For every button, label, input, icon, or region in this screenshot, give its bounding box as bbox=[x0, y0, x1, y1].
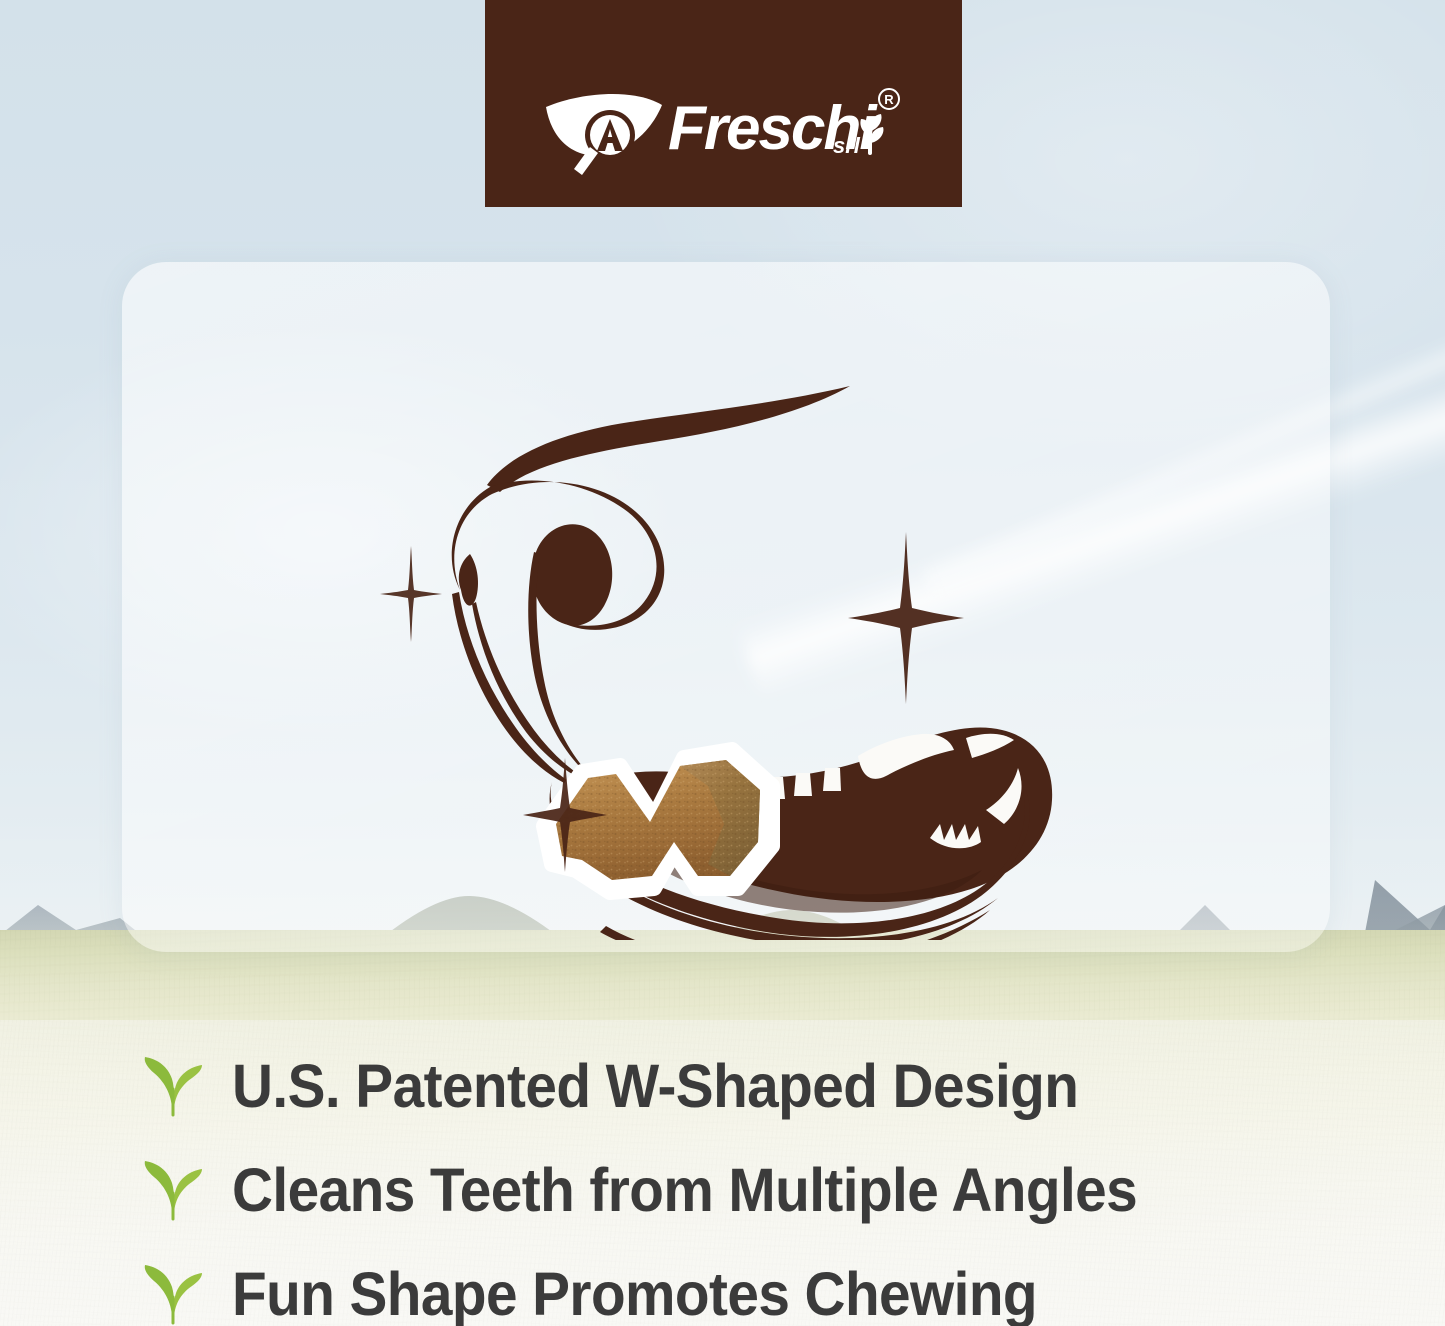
feature-list: U.S. Patented W-Shaped Design Cleans Tee… bbox=[0, 1034, 1445, 1326]
registered-trademark-icon: R bbox=[879, 89, 899, 109]
feature-label: U.S. Patented W-Shaped Design bbox=[232, 1055, 1078, 1117]
brand-logo-bar: Freschi srl R bbox=[485, 0, 962, 207]
leaf-pair-icon bbox=[136, 1257, 210, 1326]
feature-label: Cleans Teeth from Multiple Angles bbox=[232, 1159, 1137, 1221]
dog-head-linework bbox=[452, 386, 850, 790]
sparkle-small-left bbox=[380, 546, 442, 642]
leaf-pair-icon bbox=[136, 1153, 210, 1227]
leaf-pair-svg bbox=[136, 1153, 210, 1227]
leaf-pair-svg bbox=[136, 1257, 210, 1326]
leaf-magnifier-a-icon bbox=[546, 94, 662, 175]
dog-illustration-svg: W bbox=[330, 340, 1070, 940]
list-item: Cleans Teeth from Multiple Angles bbox=[0, 1138, 1445, 1242]
w-shaped-dental-chew: W bbox=[544, 750, 772, 892]
brand-suffix-text: srl bbox=[833, 133, 861, 158]
brand-wordmark: Freschi srl R bbox=[544, 83, 904, 179]
list-item: Fun Shape Promotes Chewing bbox=[0, 1242, 1445, 1326]
list-item: U.S. Patented W-Shaped Design bbox=[0, 1034, 1445, 1138]
trademark-symbol: R bbox=[884, 92, 894, 107]
leaf-pair-icon bbox=[136, 1049, 210, 1123]
brand-logo-svg: Freschi srl R bbox=[544, 83, 904, 179]
sparkle-large-right bbox=[848, 532, 964, 704]
product-feature-poster: Freschi srl R bbox=[0, 0, 1445, 1326]
brand-logo: Freschi srl R bbox=[544, 83, 904, 179]
dog-head-chewing-w-treat-illustration: W bbox=[330, 340, 1070, 940]
feature-label: Fun Shape Promotes Chewing bbox=[232, 1263, 1037, 1325]
leaf-pair-svg bbox=[136, 1049, 210, 1123]
